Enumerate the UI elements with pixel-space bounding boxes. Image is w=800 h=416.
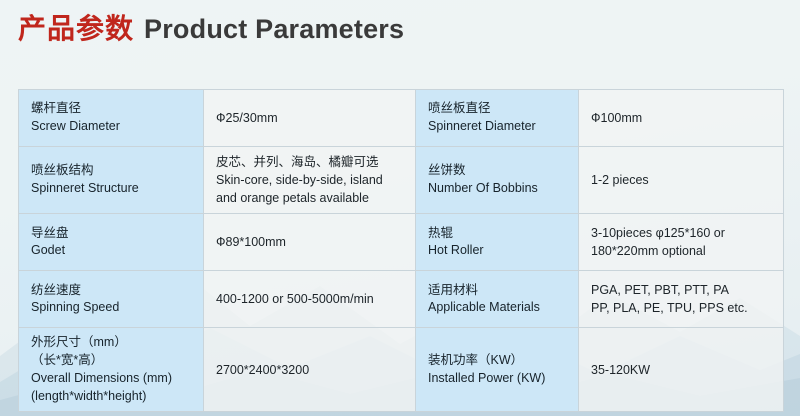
spec-value-applicable-materials: PGA, PET, PBT, PTT, PA PP, PLA, PE, TPU,… <box>579 271 784 328</box>
spec-label-spinneret-diameter: 喷丝板直径 Spinneret Diameter <box>416 90 579 147</box>
value-line: 180*220mm optional <box>591 242 771 260</box>
spec-value-hot-roller: 3-10pieces φ125*160 or 180*220mm optiona… <box>579 214 784 271</box>
spec-label-spinneret-structure: 喷丝板结构 Spinneret Structure <box>19 147 204 214</box>
spec-value-spinneret-structure: 皮芯、并列、海岛、橘瓣可选 Skin-core, side-by-side, i… <box>204 147 416 214</box>
specifications-table: 螺杆直径 Screw Diameter Ф25/30mm 喷丝板直径 Spinn… <box>18 89 784 412</box>
label-en: Overall Dimensions (mm) <box>31 370 191 388</box>
spec-value-installed-power: 35-120KW <box>579 328 784 412</box>
page-title: 产品参数 Product Parameters <box>18 14 404 45</box>
value-line: 皮芯、并列、海岛、橘瓣可选 <box>216 153 403 171</box>
table-row: 喷丝板结构 Spinneret Structure 皮芯、并列、海岛、橘瓣可选 … <box>19 147 784 214</box>
spec-value-overall-dimensions: 2700*2400*3200 <box>204 328 416 412</box>
label-en: Spinning Speed <box>31 299 191 317</box>
value-line: and orange petals available <box>216 189 403 207</box>
label-cn-2: （长*宽*高） <box>31 352 191 370</box>
spec-value-godet: Ф89*100mm <box>204 214 416 271</box>
label-en: Number Of Bobbins <box>428 180 566 198</box>
label-en: Godet <box>31 242 191 260</box>
label-cn: 装机功率（KW） <box>428 352 566 370</box>
label-en: Installed Power (KW) <box>428 370 566 388</box>
spec-label-number-of-bobbins: 丝饼数 Number Of Bobbins <box>416 147 579 214</box>
spec-label-applicable-materials: 适用材料 Applicable Materials <box>416 271 579 328</box>
value-line: PP, PLA, PE, TPU, PPS etc. <box>591 299 771 317</box>
product-parameters-page: 产品参数 Product Parameters 螺杆直径 Screw Diame… <box>0 0 800 416</box>
value-line: Ф25/30mm <box>216 109 403 127</box>
label-cn: 喷丝板结构 <box>31 162 191 180</box>
value-line: 2700*2400*3200 <box>216 361 403 379</box>
label-en-2: (length*width*height) <box>31 388 191 406</box>
label-cn: 喷丝板直径 <box>428 100 566 118</box>
value-line: 400-1200 or 500-5000m/min <box>216 290 403 308</box>
table-row: 螺杆直径 Screw Diameter Ф25/30mm 喷丝板直径 Spinn… <box>19 90 784 147</box>
table-row: 导丝盘 Godet Ф89*100mm 热辊 Hot Roller 3-10pi… <box>19 214 784 271</box>
label-en: Hot Roller <box>428 242 566 260</box>
spec-label-overall-dimensions: 外形尺寸（mm） （长*宽*高） Overall Dimensions (mm)… <box>19 328 204 412</box>
table-row: 外形尺寸（mm） （长*宽*高） Overall Dimensions (mm)… <box>19 328 784 412</box>
spec-value-screw-diameter: Ф25/30mm <box>204 90 416 147</box>
label-cn: 螺杆直径 <box>31 100 191 118</box>
value-line: Ф89*100mm <box>216 233 403 251</box>
value-line: Skin-core, side-by-side, island <box>216 171 403 189</box>
label-en: Spinneret Diameter <box>428 118 566 136</box>
label-cn: 导丝盘 <box>31 225 191 243</box>
spec-label-spinning-speed: 纺丝速度 Spinning Speed <box>19 271 204 328</box>
spec-value-spinneret-diameter: Ф100mm <box>579 90 784 147</box>
value-line: 35-120KW <box>591 361 771 379</box>
value-line: 3-10pieces φ125*160 or <box>591 224 771 242</box>
label-cn: 纺丝速度 <box>31 282 191 300</box>
value-line: 1-2 pieces <box>591 171 771 189</box>
label-en: Spinneret Structure <box>31 180 191 198</box>
page-title-cn: 产品参数 <box>18 14 134 45</box>
table-row: 纺丝速度 Spinning Speed 400-1200 or 500-5000… <box>19 271 784 328</box>
label-en: Screw Diameter <box>31 118 191 136</box>
value-line: Ф100mm <box>591 109 771 127</box>
spec-value-spinning-speed: 400-1200 or 500-5000m/min <box>204 271 416 328</box>
label-cn: 外形尺寸（mm） <box>31 334 191 352</box>
value-line: PGA, PET, PBT, PTT, PA <box>591 281 771 299</box>
spec-label-hot-roller: 热辊 Hot Roller <box>416 214 579 271</box>
spec-value-number-of-bobbins: 1-2 pieces <box>579 147 784 214</box>
label-cn: 热辊 <box>428 225 566 243</box>
page-title-en: Product Parameters <box>144 15 404 45</box>
spec-label-screw-diameter: 螺杆直径 Screw Diameter <box>19 90 204 147</box>
spec-label-installed-power: 装机功率（KW） Installed Power (KW) <box>416 328 579 412</box>
label-en: Applicable Materials <box>428 299 566 317</box>
spec-label-godet: 导丝盘 Godet <box>19 214 204 271</box>
label-cn: 适用材料 <box>428 282 566 300</box>
label-cn: 丝饼数 <box>428 162 566 180</box>
